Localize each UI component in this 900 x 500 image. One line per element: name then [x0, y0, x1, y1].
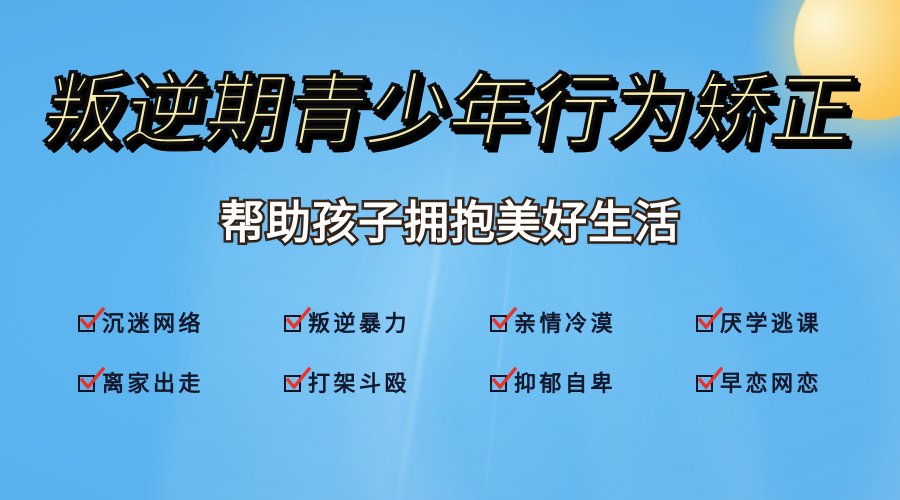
check-mark-icon [285, 367, 311, 393]
checkbox-checked-icon[interactable] [696, 315, 713, 332]
check-mark-icon [697, 307, 723, 333]
check-mark-icon [491, 367, 517, 393]
list-item-label: 厌学逃课 [720, 306, 822, 338]
list-item[interactable]: 离家出走 [78, 366, 204, 398]
check-mark-icon [79, 307, 105, 333]
issue-row: 离家出走 打架斗殴 抑郁自卑 [78, 352, 822, 412]
checkbox-checked-icon[interactable] [284, 315, 301, 332]
checkbox-checked-icon[interactable] [284, 375, 301, 392]
issue-row: 沉迷网络 叛逆暴力 亲情冷漠 [78, 292, 822, 352]
list-item[interactable]: 厌学逃课 [696, 306, 822, 338]
list-item[interactable]: 早恋网恋 [696, 366, 822, 398]
list-item[interactable]: 叛逆暴力 [284, 306, 410, 338]
checkbox-checked-icon[interactable] [490, 315, 507, 332]
check-mark-icon [697, 367, 723, 393]
check-mark-icon [79, 367, 105, 393]
checkbox-checked-icon[interactable] [696, 375, 713, 392]
list-item[interactable]: 亲情冷漠 [490, 306, 616, 338]
list-item[interactable]: 沉迷网络 [78, 306, 204, 338]
checkbox-checked-icon[interactable] [78, 315, 95, 332]
list-item-label: 沉迷网络 [102, 306, 204, 338]
page-subtitle: 帮助孩子拥抱美好生活 [0, 200, 900, 245]
list-item-label: 离家出走 [102, 366, 204, 398]
promo-banner: 叛逆期青少年行为矫正 帮助孩子拥抱美好生活 沉迷网络 [0, 0, 900, 500]
list-item[interactable]: 抑郁自卑 [490, 366, 616, 398]
check-mark-icon [491, 307, 517, 333]
list-item-label: 早恋网恋 [720, 366, 822, 398]
list-item-label: 亲情冷漠 [514, 306, 616, 338]
checkbox-checked-icon[interactable] [490, 375, 507, 392]
list-item-label: 抑郁自卑 [514, 366, 616, 398]
check-mark-icon [285, 307, 311, 333]
list-item[interactable]: 打架斗殴 [284, 366, 410, 398]
page-title: 叛逆期青少年行为矫正 [0, 72, 900, 151]
list-item-label: 叛逆暴力 [308, 306, 410, 338]
checkbox-checked-icon[interactable] [78, 375, 95, 392]
issue-checklist: 沉迷网络 叛逆暴力 亲情冷漠 [78, 292, 822, 412]
list-item-label: 打架斗殴 [308, 366, 410, 398]
